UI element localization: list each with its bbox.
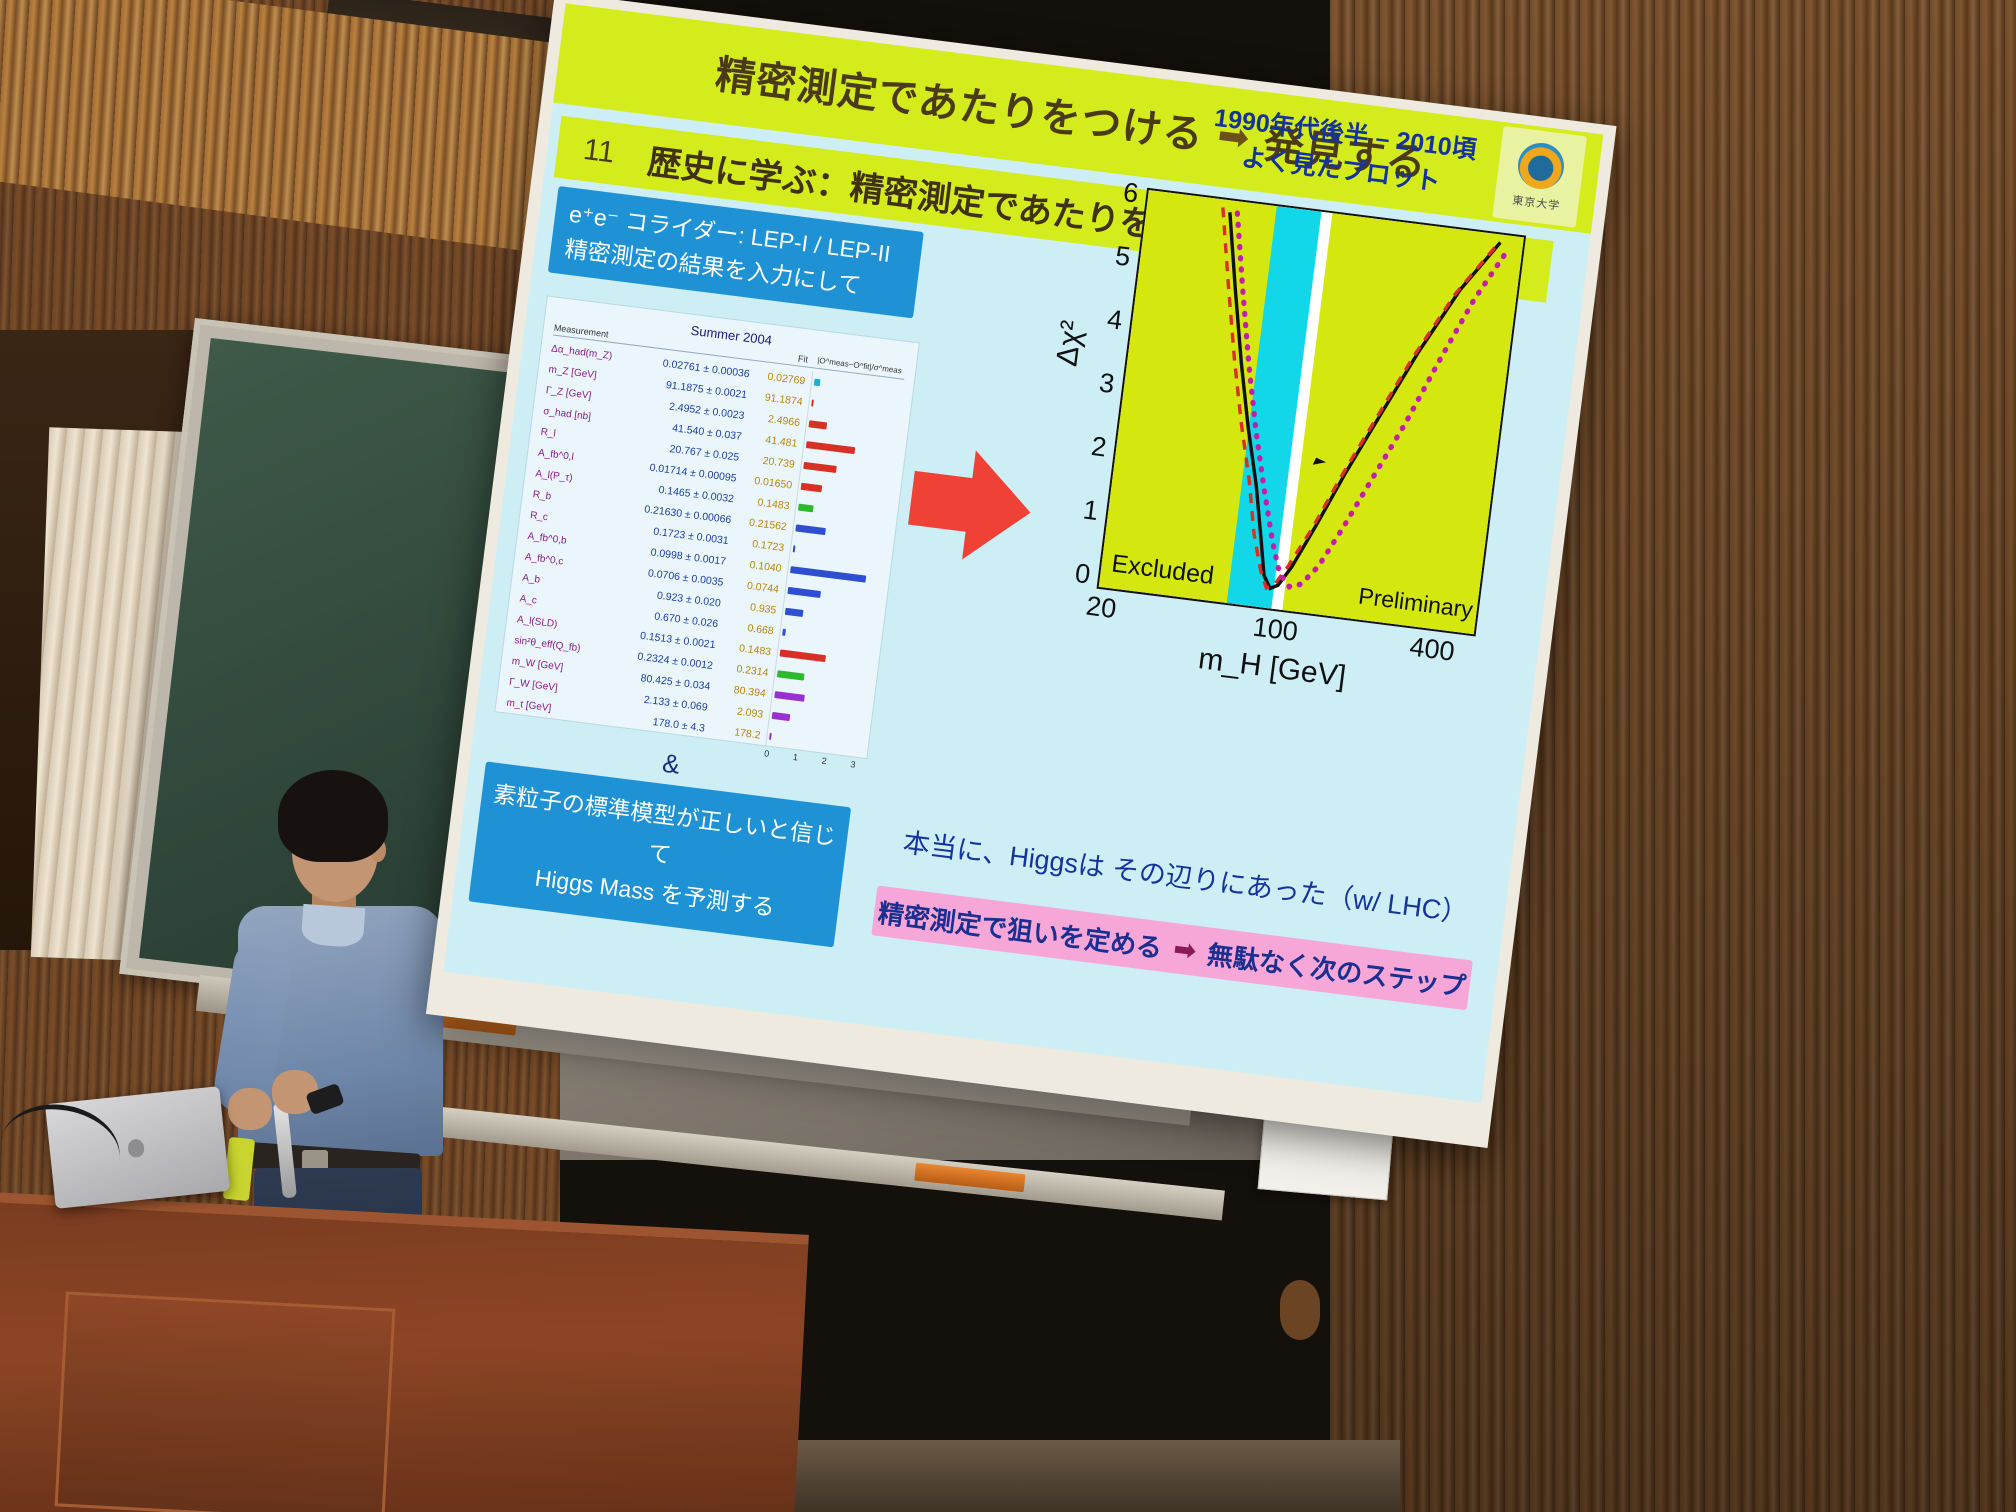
wall-knob [1280, 1280, 1320, 1340]
pull-bar [774, 691, 805, 702]
y-tick: 2 [1072, 429, 1108, 464]
pull-bar [772, 712, 791, 721]
blue-band-chart: Theory uncertainty Δα_had^(5) = 0.02761±… [1009, 130, 1540, 705]
table-body: Δα_had(m_Z)0.02761 ± 0.000360.02769m_Z [… [505, 338, 904, 757]
curve-solid [1184, 208, 1501, 611]
eraser [914, 1163, 1025, 1193]
y-axis-label: Δχ² [1050, 319, 1089, 369]
projection-screen: 精密測定であたりをつける ➡ 発見する 東京大学 11 歴史に学ぶ：精密測定であ… [426, 0, 1617, 1148]
pull-bar [801, 483, 823, 493]
x-tick: 20 [1084, 591, 1118, 626]
pink-bar-right-text: 無駄なく次のステップ [1205, 934, 1468, 1003]
pull-bar [803, 462, 837, 473]
arrow-right-icon: ➡ [1172, 933, 1198, 966]
laptop-logo-icon [127, 1138, 145, 1158]
pull-bar [798, 504, 814, 513]
pull-bar [811, 399, 814, 406]
x-tick: 100 [1251, 612, 1300, 648]
pull-bar [785, 608, 804, 617]
y-tick: 6 [1105, 175, 1141, 210]
pull-bar [787, 587, 821, 598]
podium-panel [55, 1292, 396, 1512]
y-tick: 1 [1064, 492, 1100, 527]
y-tick: 5 [1097, 238, 1133, 273]
presenter-hand-left [228, 1088, 272, 1130]
slide-surface: 精密測定であたりをつける ➡ 発見する 東京大学 11 歴史に学ぶ：精密測定であ… [443, 3, 1603, 1102]
red-arrow-icon [905, 443, 1038, 567]
pull-bar [806, 441, 855, 454]
pull-bar [795, 524, 826, 535]
photo-scene: 精密測定であたりをつける ➡ 発見する 東京大学 11 歴史に学ぶ：精密測定であ… [0, 0, 2016, 1512]
presenter-collar [301, 904, 366, 948]
pull-bar [780, 649, 826, 662]
pull-bar [790, 566, 866, 582]
curve-dashed [1176, 207, 1496, 611]
row-fit: 178.2 [704, 722, 767, 742]
y-tick: 0 [1056, 556, 1092, 591]
x-axis-label: m_H [GeV] [1196, 642, 1347, 694]
pull-bar [777, 670, 805, 680]
pull-bar [808, 420, 827, 429]
x-tick: 400 [1408, 631, 1457, 667]
pull-bar [769, 733, 772, 740]
pull-bar [793, 545, 796, 552]
floor [700, 1440, 1400, 1512]
lep-measurement-table: Summer 2004 Measurement Fit |O^meas−O^fi… [494, 295, 920, 759]
pull-bar [782, 629, 786, 636]
pull-bar [814, 379, 821, 387]
page-number: 11 [581, 133, 616, 171]
y-tick: 3 [1081, 365, 1117, 400]
pink-bar-left-text: 精密測定で狙いを定める [876, 892, 1164, 965]
y-tick: 4 [1089, 302, 1125, 337]
presenter-hair [278, 770, 388, 862]
